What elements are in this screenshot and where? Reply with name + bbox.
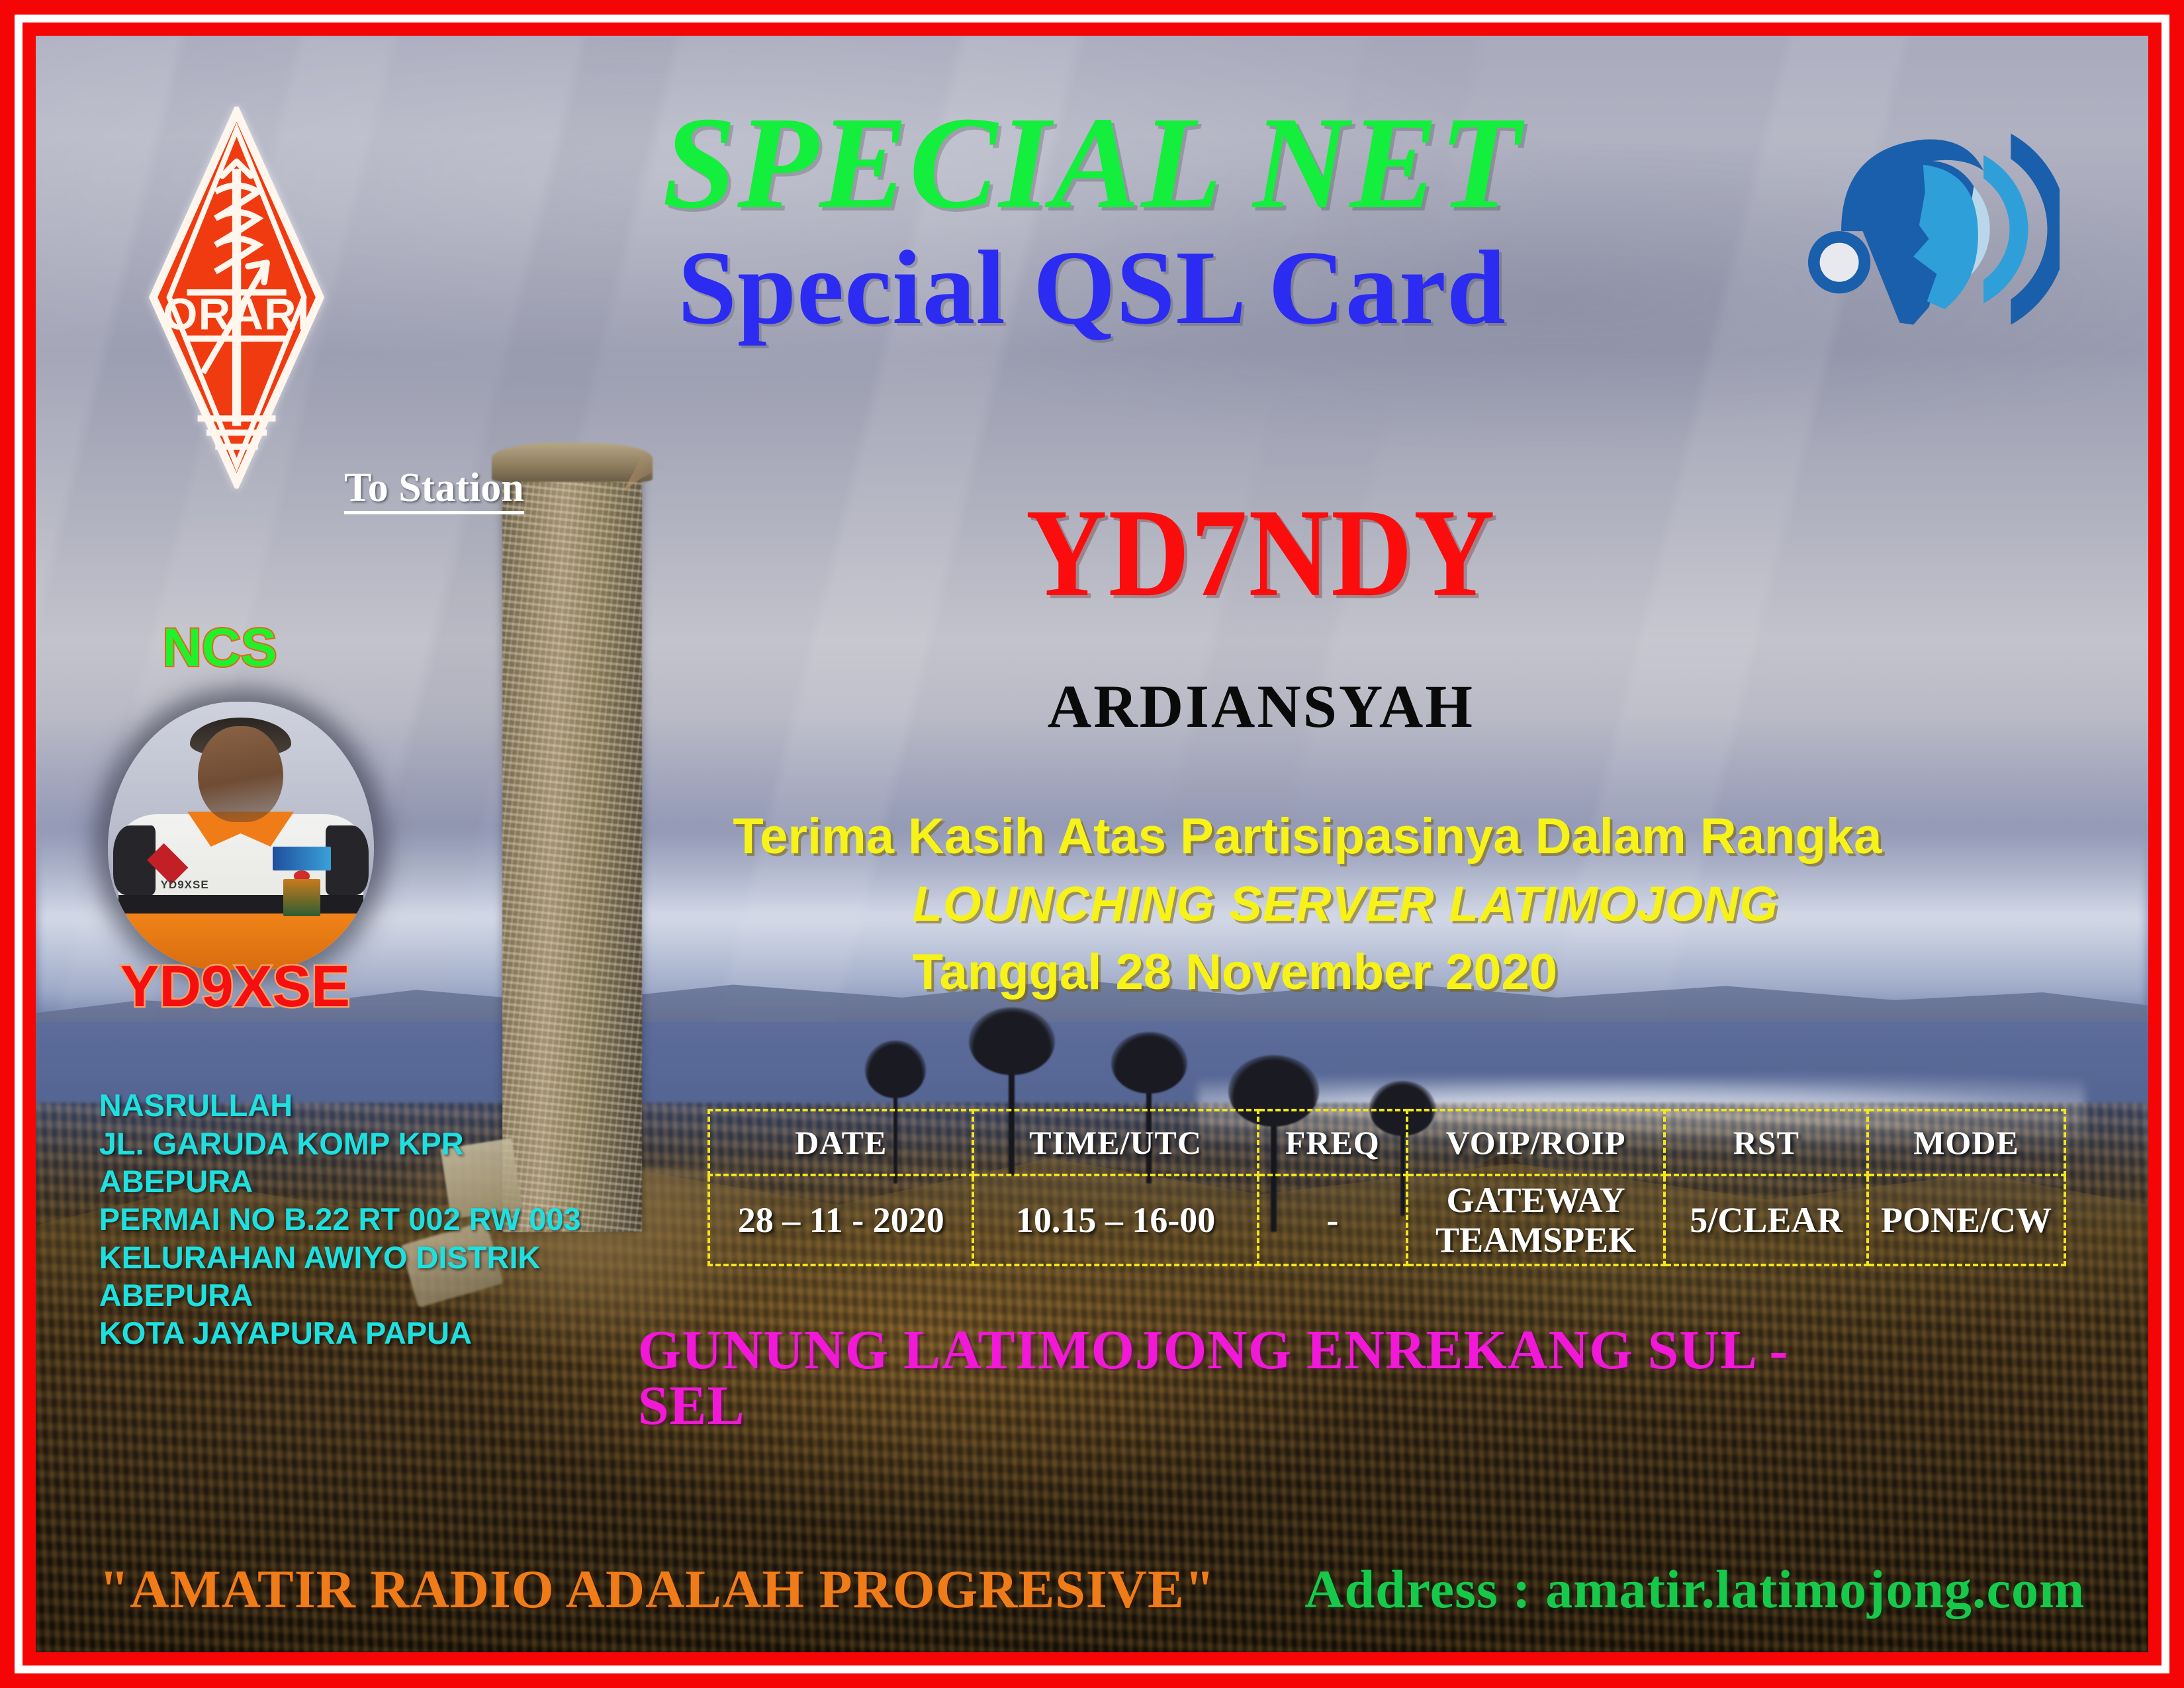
operator-shirt-callsign: YD9XSE bbox=[140, 879, 230, 890]
headset-radio-logo bbox=[1806, 94, 2060, 362]
to-station-label: To Station bbox=[344, 467, 524, 514]
card-subtitle: Special QSL Card bbox=[458, 234, 1725, 340]
page-title: SPECIAL NET bbox=[479, 97, 1704, 230]
column-header-mode: MODE bbox=[1868, 1110, 2064, 1175]
event-line: LOUNCHING SERVER LATIMOJONG bbox=[913, 880, 2096, 929]
operator-shoulder-right bbox=[326, 825, 368, 895]
cell-voip: GATEWAY TEAMSPEK bbox=[1407, 1175, 1664, 1265]
address-line: JL. GARUDA KOMP KPR bbox=[99, 1125, 733, 1162]
event-location-line: GUNUNG LATIMOJONG ENREKANG SUL - SEL bbox=[638, 1323, 1905, 1434]
table-header-row: DATE TIME/UTC FREQ VOIP/ROIP RST MODE bbox=[709, 1110, 2064, 1175]
cell-mode: PONE/CW bbox=[1868, 1175, 2064, 1265]
recipient-callsign: YD7NDY bbox=[881, 490, 1641, 616]
operator-belt bbox=[118, 895, 363, 914]
operator-chest-badge bbox=[273, 847, 331, 870]
operator-name: ARDIANSYAH bbox=[839, 676, 1684, 737]
address-line: KOTA JAYAPURA PAPUA bbox=[99, 1314, 733, 1352]
address-line: ABEPURA bbox=[99, 1276, 733, 1314]
card-background-photo: ORARI bbox=[36, 36, 2148, 1652]
qsl-card: ORARI bbox=[0, 0, 2184, 1688]
ncs-operator-photo: YD9XSE bbox=[108, 702, 374, 970]
cell-rst: 5/CLEAR bbox=[1664, 1175, 1868, 1265]
card-white-frame: ORARI bbox=[15, 15, 2169, 1673]
ncs-label: NCS bbox=[163, 621, 277, 675]
cell-freq: - bbox=[1258, 1175, 1407, 1265]
column-header-voip: VOIP/ROIP bbox=[1407, 1110, 1664, 1175]
card-inner-red-frame: ORARI bbox=[23, 23, 2161, 1665]
column-header-rst: RST bbox=[1664, 1110, 1868, 1175]
column-header-date: DATE bbox=[709, 1110, 973, 1175]
qso-log-table: DATE TIME/UTC FREQ VOIP/ROIP RST MODE 28… bbox=[707, 1109, 2066, 1266]
thanks-line: Terima Kasih Atas Partisipasinya Dalam R… bbox=[733, 812, 2042, 862]
column-header-freq: FREQ bbox=[1258, 1110, 1407, 1175]
table-row: 28 – 11 - 2020 10.15 – 16-00 - GATEWAY T… bbox=[709, 1175, 2064, 1265]
address-line: NASRULLAH bbox=[99, 1086, 733, 1124]
column-header-time: TIME/UTC bbox=[973, 1110, 1257, 1175]
mailing-address: NASRULLAH JL. GARUDA KOMP KPR ABEPURA PE… bbox=[99, 1086, 733, 1352]
ncs-callsign: YD9XSE bbox=[120, 957, 350, 1015]
address-line: ABEPURA bbox=[99, 1162, 733, 1200]
address-line: PERMAI NO B.22 RT 002 RW 003 bbox=[99, 1200, 733, 1238]
operator-id-card bbox=[283, 879, 320, 917]
event-date-line: Tanggal 28 November 2020 bbox=[913, 947, 2096, 998]
orari-logo: ORARI bbox=[120, 107, 353, 488]
cell-date: 28 – 11 - 2020 bbox=[709, 1175, 973, 1265]
operator-face bbox=[198, 726, 283, 823]
address-line: KELURAHAN AWIYO DISTRIK bbox=[99, 1239, 733, 1276]
web-address-text: Address : amatir.latimojong.com bbox=[1304, 1562, 2085, 1617]
orari-logo-text: ORARI bbox=[163, 290, 310, 340]
motto-text: "AMATIR RADIO ADALAH PROGRESIVE" bbox=[99, 1562, 1216, 1617]
cell-time: 10.15 – 16-00 bbox=[973, 1175, 1257, 1265]
